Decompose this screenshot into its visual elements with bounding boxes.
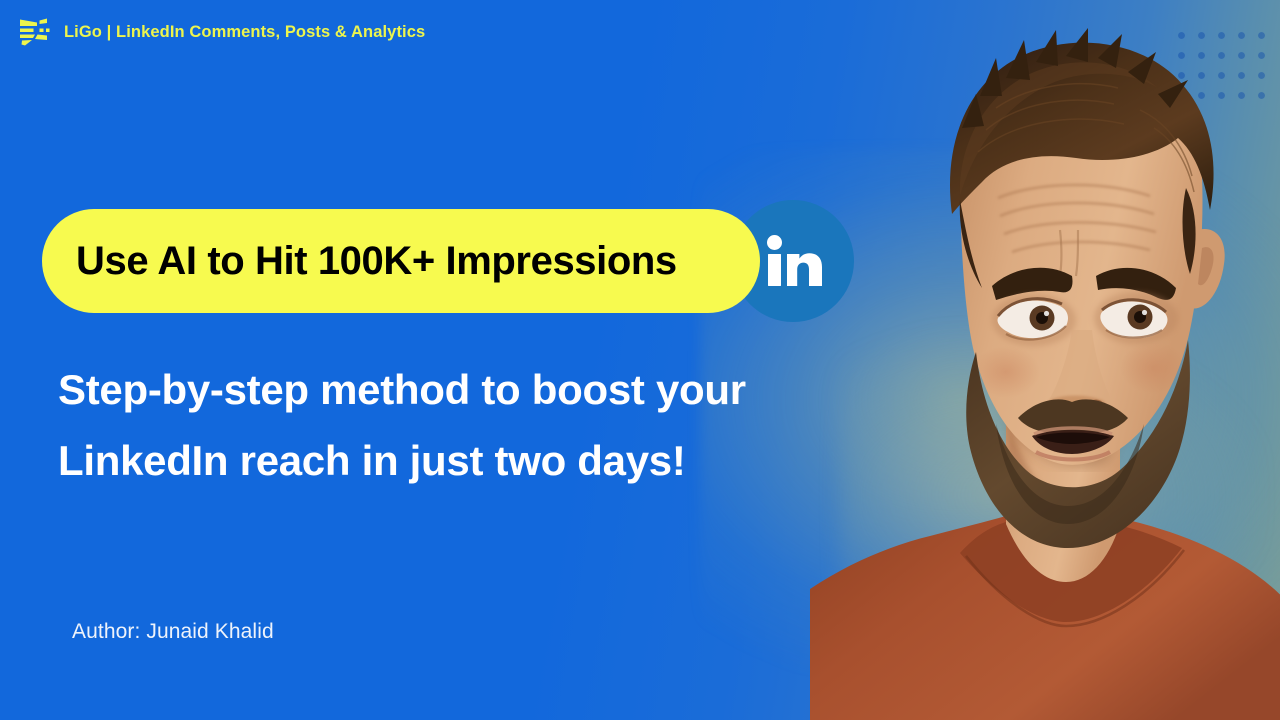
subheading-line-1: Step-by-step method to boost your (58, 355, 868, 426)
ligo-fan-logo-icon (16, 14, 52, 50)
cover-canvas: LiGo | LinkedIn Comments, Posts & Analyt… (0, 0, 1280, 720)
brand-header[interactable]: LiGo | LinkedIn Comments, Posts & Analyt… (16, 14, 425, 50)
headline-pill: Use AI to Hit 100K+ Impressions (42, 209, 760, 313)
subheading-line-2: LinkedIn reach in just two days! (58, 426, 868, 497)
brand-title: LiGo | LinkedIn Comments, Posts & Analyt… (64, 23, 425, 42)
headline-row: Use AI to Hit 100K+ Impressions (42, 200, 854, 322)
headline-text: Use AI to Hit 100K+ Impressions (76, 241, 677, 281)
author-credit: Author: Junaid Khalid (72, 620, 274, 644)
subheading: Step-by-step method to boost your Linked… (58, 355, 868, 496)
